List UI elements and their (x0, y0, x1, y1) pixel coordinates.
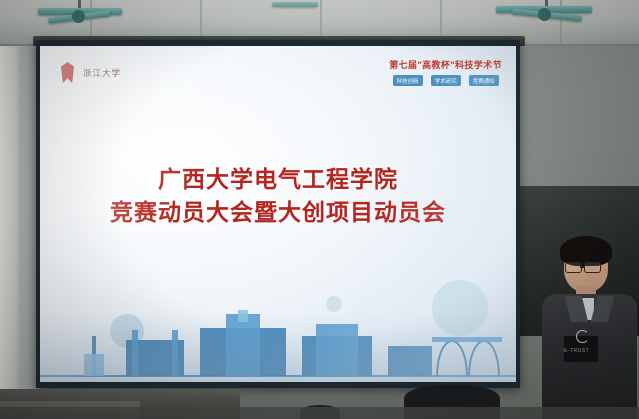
badge-text: E-TRUST (564, 348, 608, 354)
ceiling-fan-hub (538, 8, 551, 21)
slide-bottom-shade (40, 312, 516, 382)
slide-title-line-2: 竞赛动员大会暨大创项目动员会 (40, 197, 516, 230)
slide-title: 广西大学电气工程学院 竞赛动员大会暨大创项目动员会 (40, 164, 516, 230)
eyeglasses-bridge (580, 266, 584, 268)
banner-chip: 科技创新 (393, 75, 423, 86)
university-crest-icon (58, 62, 78, 84)
banner-chip: 学术研究 (431, 75, 461, 86)
slide-university-logo: 浙江大学 (58, 62, 121, 84)
floor-shadow (0, 407, 639, 419)
ceiling-fan-hub (72, 10, 85, 23)
slide-title-line-1: 广西大学电气工程学院 (40, 164, 516, 197)
eyeglasses-icon (584, 262, 601, 273)
photo-scene: 浙江大学 第七届"高教杯"科技学术节 科技创新 学术研究 竞赛通知 广西大学电气… (0, 0, 639, 419)
ceiling-light-bar (272, 2, 318, 7)
banner-chip: 竞赛通知 (469, 75, 499, 86)
wall-pillar-left (0, 0, 22, 419)
banner-title: 第七届"高教杯"科技学术节 (389, 58, 502, 71)
slide-banner: 第七届"高教杯"科技学术节 科技创新 学术研究 竞赛通知 (389, 58, 502, 86)
banner-chip-row: 科技创新 学术研究 竞赛通知 (389, 75, 502, 86)
badge-logo-icon (576, 330, 589, 343)
university-name: 浙江大学 (83, 67, 121, 79)
presenter: E-TRUST (540, 236, 639, 419)
presentation-slide: 浙江大学 第七届"高教杯"科技学术节 科技创新 学术研究 竞赛通知 广西大学电气… (40, 46, 516, 382)
